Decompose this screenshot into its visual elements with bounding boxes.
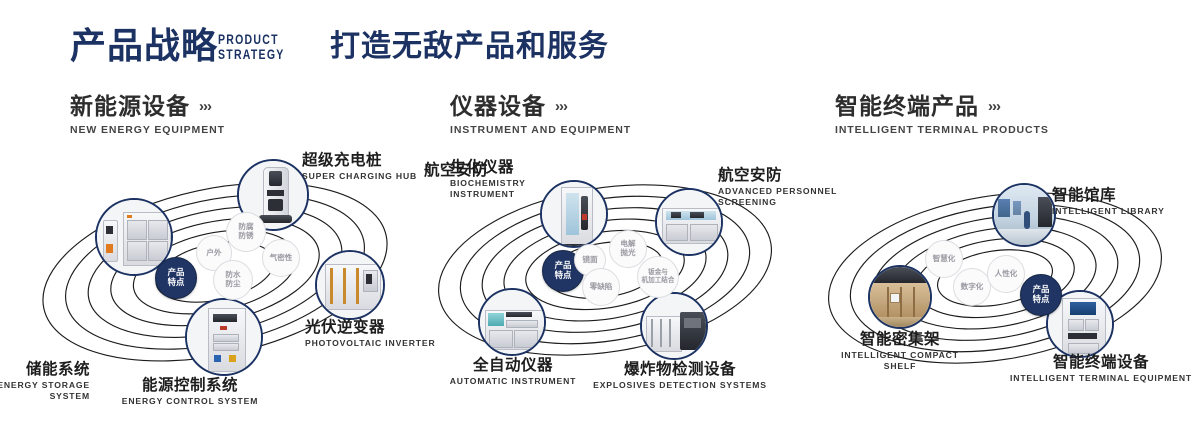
node-intelligent-library[interactable]	[992, 183, 1056, 247]
node-advanced-personnel-screening[interactable]	[655, 188, 723, 256]
section-heading-cn: 智能终端产品›››	[835, 95, 1049, 118]
node-automatic-instrument[interactable]	[478, 288, 546, 356]
section-heading-en: INTELLIGENT TERMINAL PRODUCTS	[835, 125, 1049, 136]
section-heading-instrument: 仪器设备››› INSTRUMENT AND EQUIPMENT	[450, 95, 631, 136]
section-heading-new-energy: 新能源设备››› NEW ENERGY EQUIPMENT	[70, 95, 225, 136]
section-heading-intelligent: 智能终端产品››› INTELLIGENT TERMINAL PRODUCTS	[835, 95, 1049, 136]
feature-bubble-smart: 智慧化	[925, 240, 963, 278]
feature-bubble-airtight: 气密性	[262, 239, 300, 277]
label-intelligent-library: 智能馆库 INTELLIGENT LIBRARY	[1052, 188, 1182, 217]
feature-bubble-waterproof: 防水防尘	[213, 260, 253, 300]
feature-core-panel3: 产品特点	[1020, 274, 1062, 316]
intelligent-library-photo	[994, 185, 1054, 245]
automatic-instrument-photo	[480, 290, 544, 354]
energy-control-system-photo	[187, 300, 261, 374]
feature-bubble-digital: 数字化	[953, 268, 991, 306]
page-title-cn: 产品战略	[70, 28, 218, 64]
section-heading-cn: 仪器设备›››	[450, 95, 631, 118]
section-heading-en: INSTRUMENT AND EQUIPMENT	[450, 125, 631, 136]
page-header: 产品战略 PRODUCT STRATEGY 打造无敌产品和服务	[0, 0, 1200, 86]
node-intelligent-compact-shelf[interactable]	[868, 265, 932, 329]
node-photovoltaic-inverter[interactable]	[315, 250, 385, 320]
label-energy-control-system: 能源控制系统 ENERGY CONTROL SYSTEM	[95, 378, 285, 407]
feature-bubble-zero-defect: 零缺陷	[582, 268, 620, 306]
panel-new-energy-equipment: 储能系统 ENERGY STORAGESYSTEM 超级充电桩 SUPER CH…	[0, 150, 420, 410]
panel-intelligent-terminal-products: 智能馆库 INTELLIGENT LIBRARY 智能密集架 INTELLIGE…	[790, 150, 1200, 410]
page-title-en-line2: STRATEGY	[218, 47, 285, 62]
feature-bubble-sheetmetal-machining: 钣金与机加工结合	[637, 256, 679, 298]
node-explosives-detection-systems[interactable]	[640, 292, 708, 360]
label-energy-storage-system: 储能系统 ENERGY STORAGESYSTEM	[0, 362, 90, 402]
label-intelligent-compact-shelf: 智能密集架 INTELLIGENT COMPACTSHELF	[820, 332, 980, 372]
node-energy-control-system[interactable]	[185, 298, 263, 376]
label-explosives-detection-systems: 爆炸物检测设备 EXPLOSIVES DETECTION SYSTEMS	[580, 362, 780, 391]
feature-core-panel1: 产品特点	[155, 257, 197, 299]
chevrons-icon: ›››	[555, 99, 567, 114]
chevrons-icon: ›››	[988, 99, 1000, 114]
label-intelligent-terminal-equipment: 智能终端设备 INTELLIGENT TERMINAL EQUIPMENT	[1006, 355, 1196, 384]
page-title-en: PRODUCT STRATEGY	[218, 32, 285, 62]
chevrons-icon: ›››	[199, 99, 211, 114]
section-heading-en: NEW ENERGY EQUIPMENT	[70, 125, 225, 136]
explosives-detection-systems-photo	[642, 294, 706, 358]
label-biochemistry-instrument: 生化仪器 BIOCHEMISTRYINSTRUMENT	[450, 160, 570, 200]
label-automatic-instrument: 全自动仪器 AUTOMATIC INSTRUMENT	[428, 358, 598, 387]
intelligent-compact-shelf-photo	[870, 267, 930, 327]
photovoltaic-inverter-photo	[317, 252, 383, 318]
feature-bubble-anticorrosion: 防腐防锈	[226, 212, 266, 252]
advanced-personnel-screening-photo	[657, 190, 721, 254]
page-title-en-line1: PRODUCT	[218, 32, 285, 47]
page-subtitle: 打造无敌产品和服务	[330, 32, 609, 62]
feature-bubble-humanized: 人性化	[987, 255, 1025, 293]
section-heading-cn: 新能源设备›››	[70, 95, 225, 118]
panel-instrument-and-equipment: 航空安防 生化仪器 BIOCHEMISTRYINSTRUMENT	[400, 150, 820, 410]
